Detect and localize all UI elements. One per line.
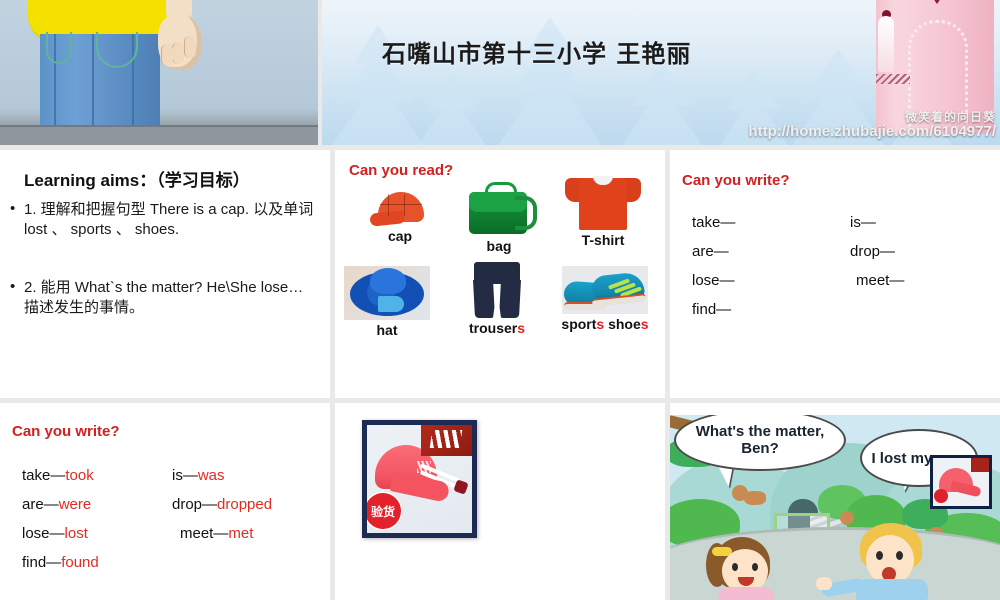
presentation-title: 石嘴山市第十三小学 王艳丽 bbox=[382, 34, 691, 69]
cap-icon bbox=[370, 192, 430, 226]
learning-aims-item-text: 2. 能用 What`s the matter? He\She lose… 描述… bbox=[24, 278, 320, 318]
vocab-label: bag bbox=[451, 238, 547, 254]
verb-row[interactable]: drop— bbox=[850, 237, 904, 266]
slide-title-banner[interactable]: 石嘴山市第十三小学 王艳丽 微笑着的向日葵 http://home.zhubaj… bbox=[322, 0, 1000, 145]
hat-icon bbox=[344, 266, 430, 320]
verb-answer-column-2: is—was drop—dropped meet—met bbox=[172, 461, 272, 548]
verb-row[interactable]: lose— bbox=[692, 266, 735, 295]
verb-answer-column-1: take—took are—were lose—lost find—found bbox=[22, 461, 99, 577]
brand-tag bbox=[421, 425, 472, 456]
bag-icon bbox=[463, 180, 535, 236]
cap-inset-photo bbox=[933, 458, 989, 506]
vocab-label: hat bbox=[339, 322, 435, 338]
castle-decoration bbox=[876, 74, 910, 84]
finger bbox=[172, 42, 184, 64]
cap-brim-tip bbox=[453, 479, 468, 494]
finger bbox=[184, 36, 196, 58]
eye bbox=[896, 551, 903, 560]
ground-line bbox=[0, 125, 318, 145]
slide-deck: 石嘴山市第十三小学 王艳丽 微笑着的向日葵 http://home.zhubaj… bbox=[0, 0, 1000, 600]
brand-tag bbox=[971, 458, 989, 472]
learning-aims-item: • 2. 能用 What`s the matter? He\She lose… … bbox=[10, 278, 320, 318]
slide-learning-aims[interactable]: Learning aims：（学习目标） • 1. 理解和把握句型 There … bbox=[0, 150, 330, 398]
eye bbox=[752, 563, 758, 571]
learning-aims-item: • 1. 理解和把握句型 There is a cap. 以及单词 lost 、… bbox=[10, 200, 320, 240]
monkey bbox=[840, 511, 854, 525]
slide-cap-product-photo[interactable]: 验货 bbox=[335, 403, 665, 600]
trousers-icon bbox=[468, 262, 526, 318]
vocab-label: T-shirt bbox=[555, 232, 651, 248]
learning-aims-heading: Learning aims：（学习目标） bbox=[24, 166, 250, 191]
slide-can-you-write-answers[interactable]: Can you write? take—took are—were lose—l… bbox=[0, 403, 330, 600]
zoo-scene: What's the matter, Ben? I lost my cap. bbox=[670, 403, 1000, 600]
verb-row[interactable]: are— bbox=[692, 237, 735, 266]
finger bbox=[161, 44, 173, 66]
vocab-label: sports shoes bbox=[551, 316, 659, 332]
slide-can-you-write-blank[interactable]: Can you write? take— are— lose— find— is… bbox=[670, 150, 1000, 398]
can-you-read-heading: Can you read? bbox=[349, 162, 453, 179]
verb-answer-row[interactable]: are—were bbox=[22, 490, 99, 519]
verb-list-column-1: take— are— lose— find— bbox=[692, 208, 735, 324]
bullet-marker: • bbox=[10, 199, 15, 219]
verification-stamp bbox=[934, 489, 948, 503]
learning-aims-item-text: 1. 理解和把握句型 There is a cap. 以及单词 lost 、 s… bbox=[24, 200, 320, 240]
vocab-item-tshirt[interactable]: T-shirt bbox=[555, 172, 651, 248]
verb-row[interactable]: meet— bbox=[850, 266, 904, 295]
adidas-logo-icon bbox=[430, 430, 463, 448]
girl-shirt bbox=[718, 587, 774, 600]
verb-answer-row[interactable]: drop—dropped bbox=[172, 490, 272, 519]
sports-shoes-icon bbox=[562, 266, 648, 314]
boy-blue-jeans bbox=[40, 34, 160, 128]
vocab-item-trousers[interactable]: trousers bbox=[445, 262, 549, 336]
castle-roof-icon bbox=[922, 0, 952, 4]
eye bbox=[876, 551, 883, 560]
verb-row[interactable]: is— bbox=[850, 208, 904, 237]
speech-bubble-question: What's the matter, Ben? bbox=[674, 409, 846, 471]
tshirt-icon bbox=[565, 172, 641, 230]
verification-stamp: 验货 bbox=[367, 491, 403, 531]
vocab-item-sports-shoes[interactable]: sports shoes bbox=[551, 266, 659, 332]
monkey-body bbox=[744, 491, 766, 505]
verb-answer-row[interactable]: meet—met bbox=[172, 519, 272, 548]
vocab-label: cap bbox=[357, 228, 443, 244]
boy-shirt bbox=[856, 579, 928, 600]
castle-spire bbox=[878, 16, 894, 72]
scene-top-edge bbox=[670, 403, 1000, 415]
verb-list-column-2: is— drop— meet— bbox=[850, 208, 904, 295]
verb-answer-row[interactable]: lose—lost bbox=[22, 519, 99, 548]
bullet-marker: • bbox=[10, 277, 15, 297]
cap-brim bbox=[950, 481, 982, 498]
eye bbox=[732, 563, 738, 571]
vocab-label: trousers bbox=[445, 320, 549, 336]
vocab-item-cap[interactable]: cap bbox=[357, 192, 443, 244]
slide-can-you-read[interactable]: Can you read? cap bag bbox=[335, 150, 665, 398]
slide-boy-crop[interactable] bbox=[0, 0, 318, 145]
boy-hand bbox=[158, 14, 202, 70]
cap-photo: 验货 bbox=[367, 425, 472, 533]
can-you-write-heading: Can you write? bbox=[12, 423, 120, 440]
jeans-pocket bbox=[46, 32, 72, 64]
jeans-seam bbox=[92, 34, 94, 128]
slide-cartoon-dialogue[interactable]: What's the matter, Ben? I lost my cap. bbox=[670, 403, 1000, 600]
watermark-url: http://home.zhubajie.com/6104977/ bbox=[748, 123, 996, 140]
can-you-write-heading: Can you write? bbox=[682, 172, 790, 189]
vocab-item-hat[interactable]: hat bbox=[339, 266, 435, 338]
verb-row[interactable]: take— bbox=[692, 208, 735, 237]
cap-inset-frame bbox=[930, 455, 992, 509]
boy-hand bbox=[816, 577, 832, 590]
cap-photo-frame: 验货 bbox=[362, 420, 477, 538]
vocab-item-bag[interactable]: bag bbox=[451, 180, 547, 254]
verb-answer-row[interactable]: find—found bbox=[22, 548, 99, 577]
verb-answer-row[interactable]: take—took bbox=[22, 461, 99, 490]
verb-answer-row[interactable]: is—was bbox=[172, 461, 272, 490]
verb-row[interactable]: find— bbox=[692, 295, 735, 324]
